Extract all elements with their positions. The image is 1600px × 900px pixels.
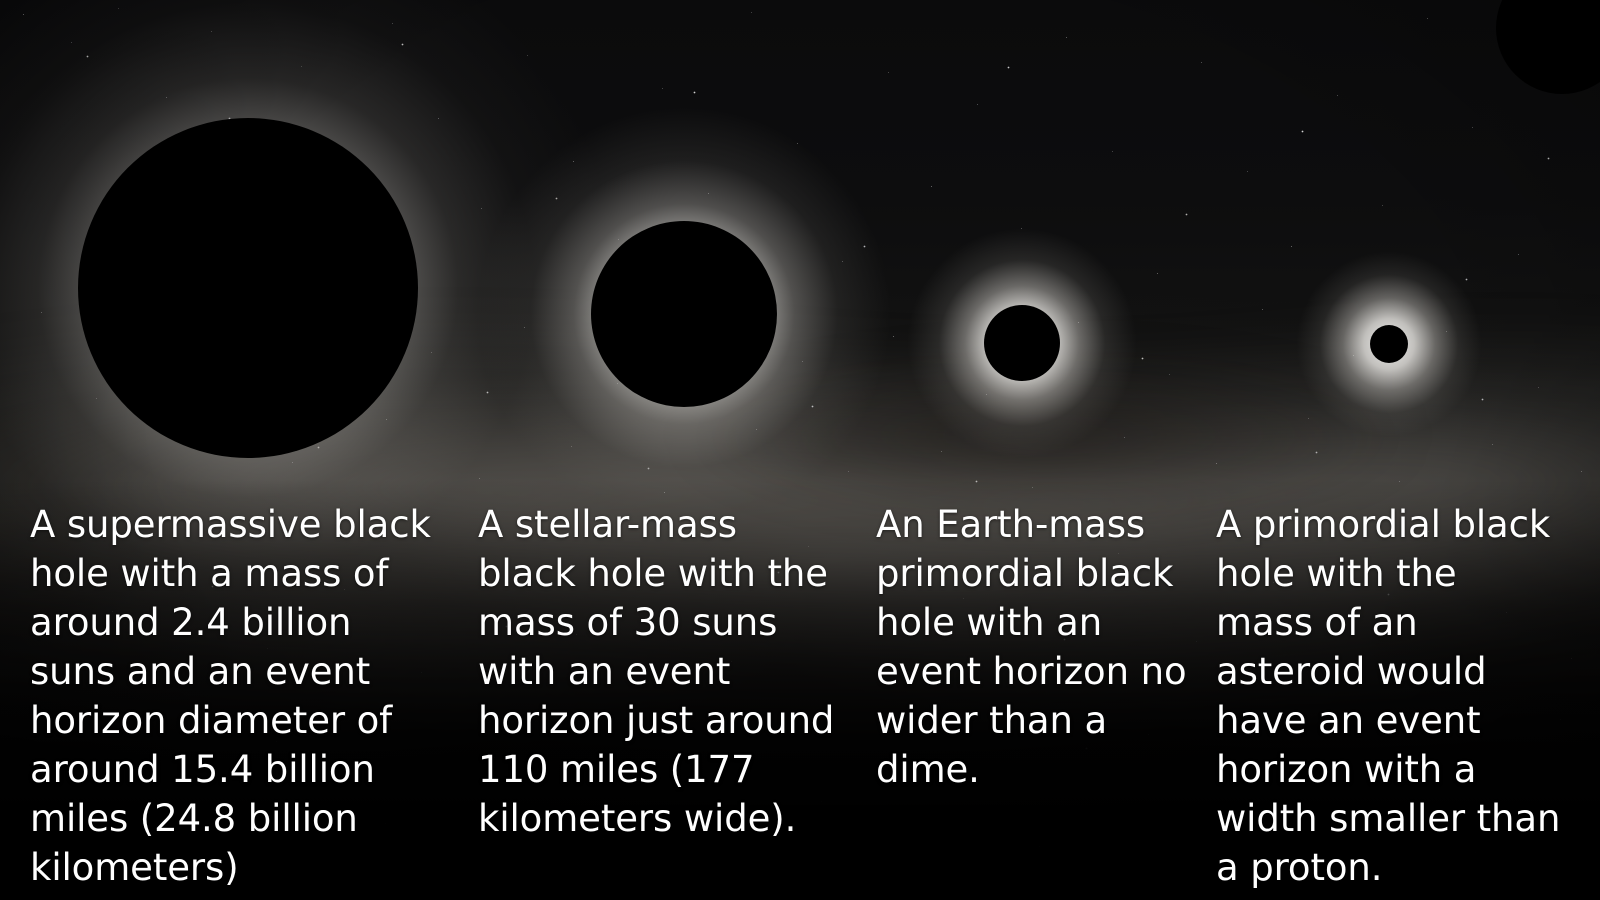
event-horizon-earth-mass[interactable] (984, 305, 1060, 381)
event-horizon-stellar-mass[interactable] (591, 221, 777, 407)
caption-stellar-mass-black-hole: A stellar-mass black hole with the mass … (478, 500, 838, 843)
event-horizon-asteroid-mass[interactable] (1370, 325, 1408, 363)
caption-supermassive-black-hole: A supermassive black hole with a mass of… (30, 500, 440, 892)
event-horizon-supermassive[interactable] (78, 118, 418, 458)
black-hole-comparison-figure: A supermassive black hole with a mass of… (0, 0, 1600, 900)
caption-earth-mass-black-hole: An Earth-mass primordial black hole with… (876, 500, 1206, 794)
caption-asteroid-mass-black-hole: A primordial black hole with the mass of… (1216, 500, 1561, 892)
